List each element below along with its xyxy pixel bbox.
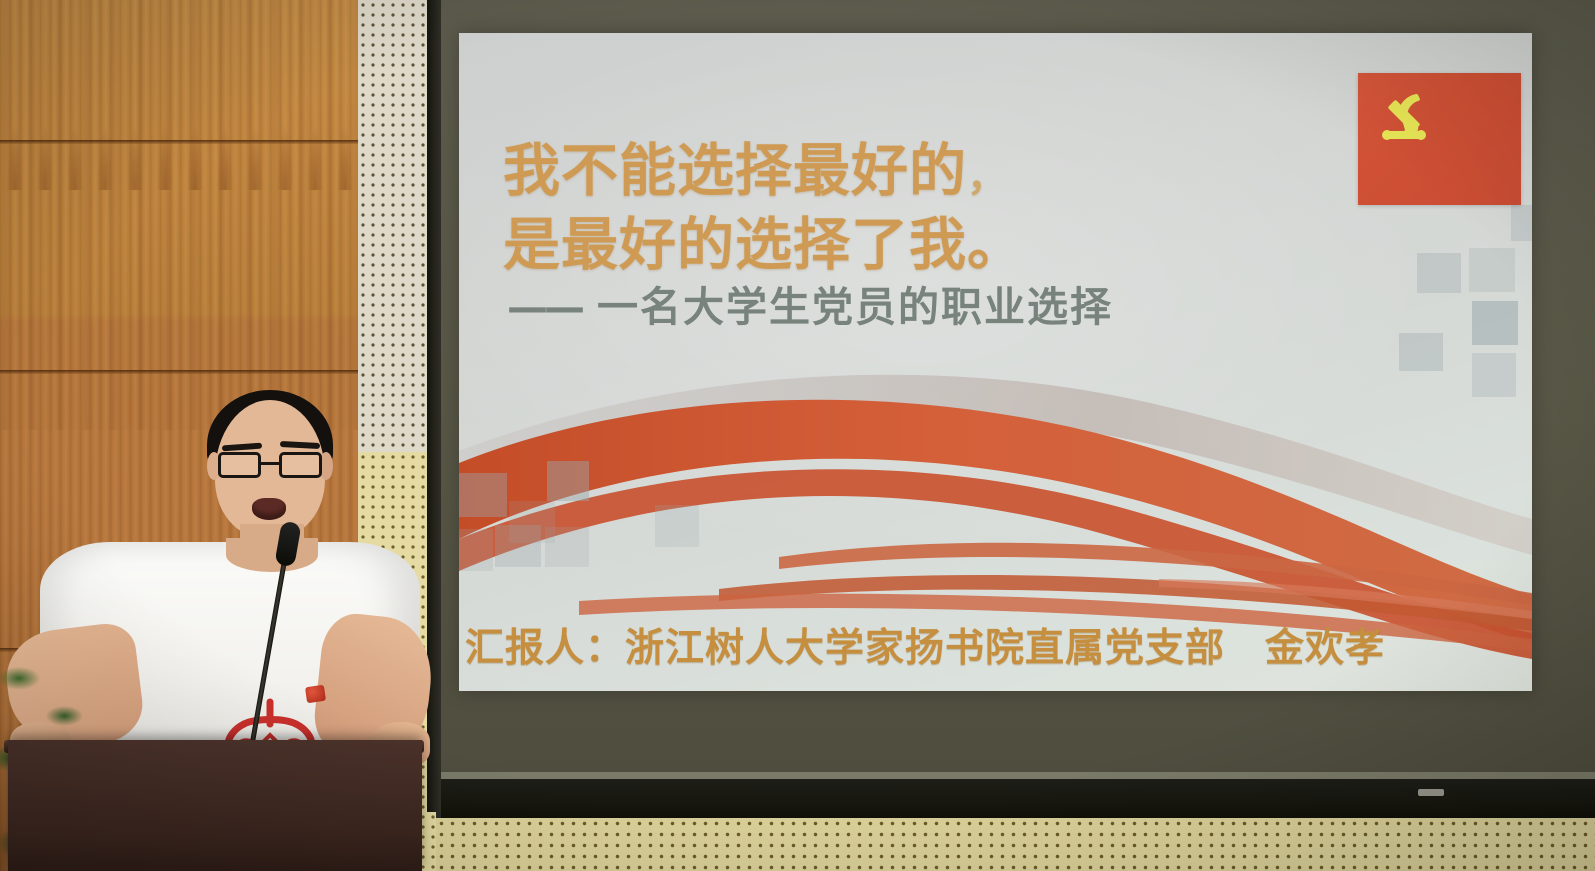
glasses-bridge (261, 462, 279, 465)
slide-subtitle-text: 一名大学生党员的职业选择 (597, 283, 1113, 331)
decor-square (545, 527, 589, 567)
podium: ●●● (8, 740, 422, 871)
decor-square (1417, 253, 1461, 293)
party-pin-icon (305, 685, 326, 703)
ribbon-wave-graphic (459, 343, 1532, 673)
cpc-party-flag (1358, 73, 1521, 205)
shirt-collar (226, 538, 318, 572)
decor-square (1511, 205, 1532, 241)
screenshot-stage: 我不能选择最好的，是最好的选择了我。 ——一名大学生党员的职业选择 (0, 0, 1595, 871)
slide-title-comma: ， (967, 154, 1008, 200)
wood-arch-pattern (0, 0, 358, 190)
screen-bottom-shadow-bar (441, 779, 1595, 819)
presentation-slide: 我不能选择最好的，是最好的选择了我。 ——一名大学生党员的职业选择 (459, 33, 1532, 691)
acoustic-panel-upper (358, 0, 436, 452)
slide-subtitle-dash: —— (507, 283, 581, 331)
slide-presenter-line: 汇报人：浙江树人大学家扬书院直属党支部 金欢孝 (465, 625, 1385, 673)
acoustic-wall-below-screen (436, 818, 1595, 871)
slide-title-line-1: 我不能选择最好的 (503, 138, 967, 204)
mouth (252, 498, 286, 520)
decor-square (459, 529, 493, 571)
decor-square (1469, 248, 1515, 292)
hammer-and-sickle-icon (1376, 87, 1440, 151)
decor-square (655, 505, 699, 547)
screen-pull-knob (1418, 789, 1444, 796)
glasses-lens-right (279, 452, 322, 478)
wood-seam-upper (0, 140, 358, 144)
decor-square (547, 461, 589, 501)
glasses-lens-left (218, 452, 261, 478)
decor-square (1472, 301, 1518, 345)
wood-seam-middle (0, 370, 358, 374)
decor-square (495, 525, 541, 567)
slide-title-line-2: 是最好的选择了我。 (503, 212, 1025, 278)
decor-square (459, 473, 507, 517)
slide-title: 我不能选择最好的，是最好的选择了我。 (503, 137, 1363, 279)
slide-subtitle: ——一名大学生党员的职业选择 (507, 283, 1113, 331)
glasses-icon (218, 452, 322, 478)
